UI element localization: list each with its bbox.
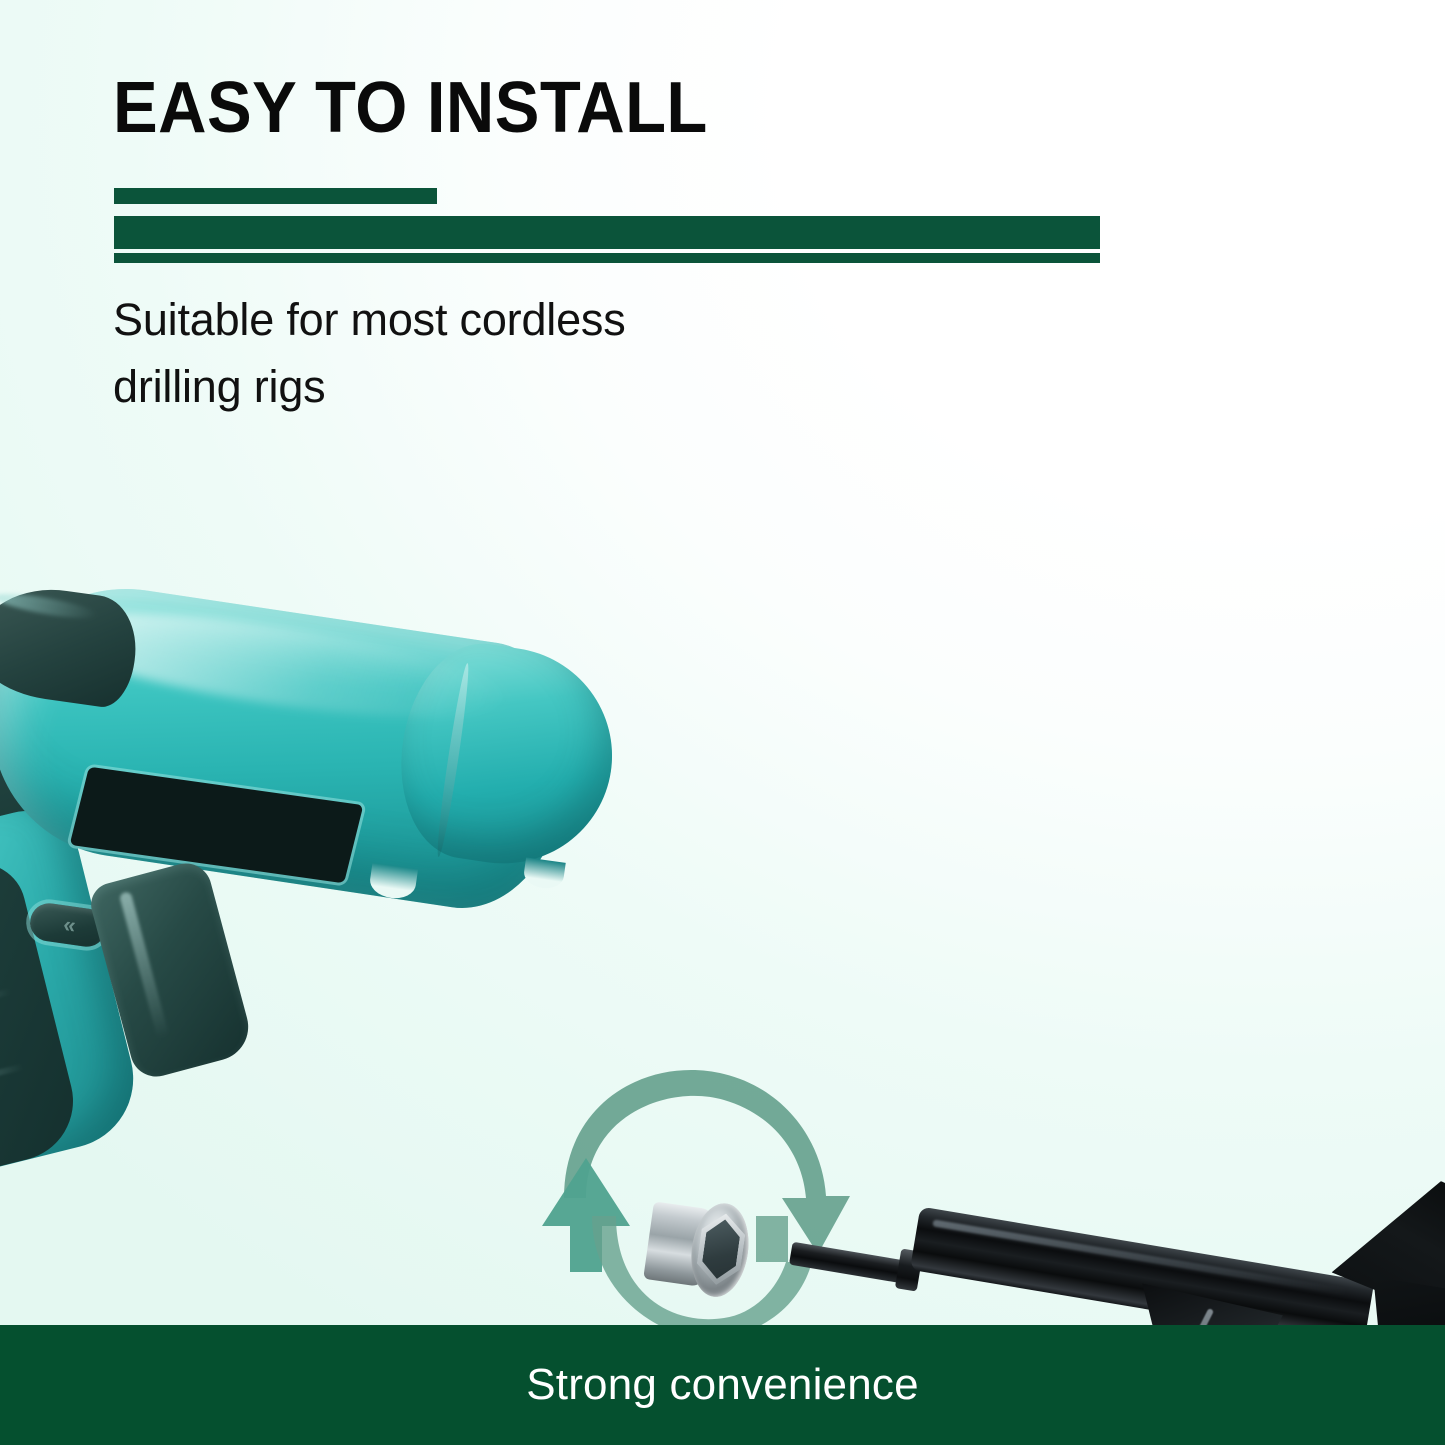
- subtitle-text: Suitable for most cordless drilling rigs: [113, 287, 753, 420]
- footer-caption: Strong convenience: [526, 1360, 919, 1410]
- page-title: EASY TO INSTALL: [113, 72, 708, 144]
- footer-banner: Strong convenience: [0, 1325, 1445, 1445]
- accent-rule-thin: [114, 253, 1100, 263]
- grip-ridge: [0, 1064, 24, 1099]
- drill-body-notch: [522, 857, 566, 890]
- accent-rule-thick: [114, 216, 1100, 249]
- reverse-direction-label: «: [62, 913, 74, 936]
- grip-ridge: [0, 988, 11, 1023]
- accent-rule-short: [114, 188, 437, 204]
- product-illustration: «: [0, 430, 1445, 1325]
- drill-chuck: [642, 1192, 755, 1305]
- poster-canvas: EASY TO INSTALL Suitable for most cordle…: [0, 0, 1445, 1445]
